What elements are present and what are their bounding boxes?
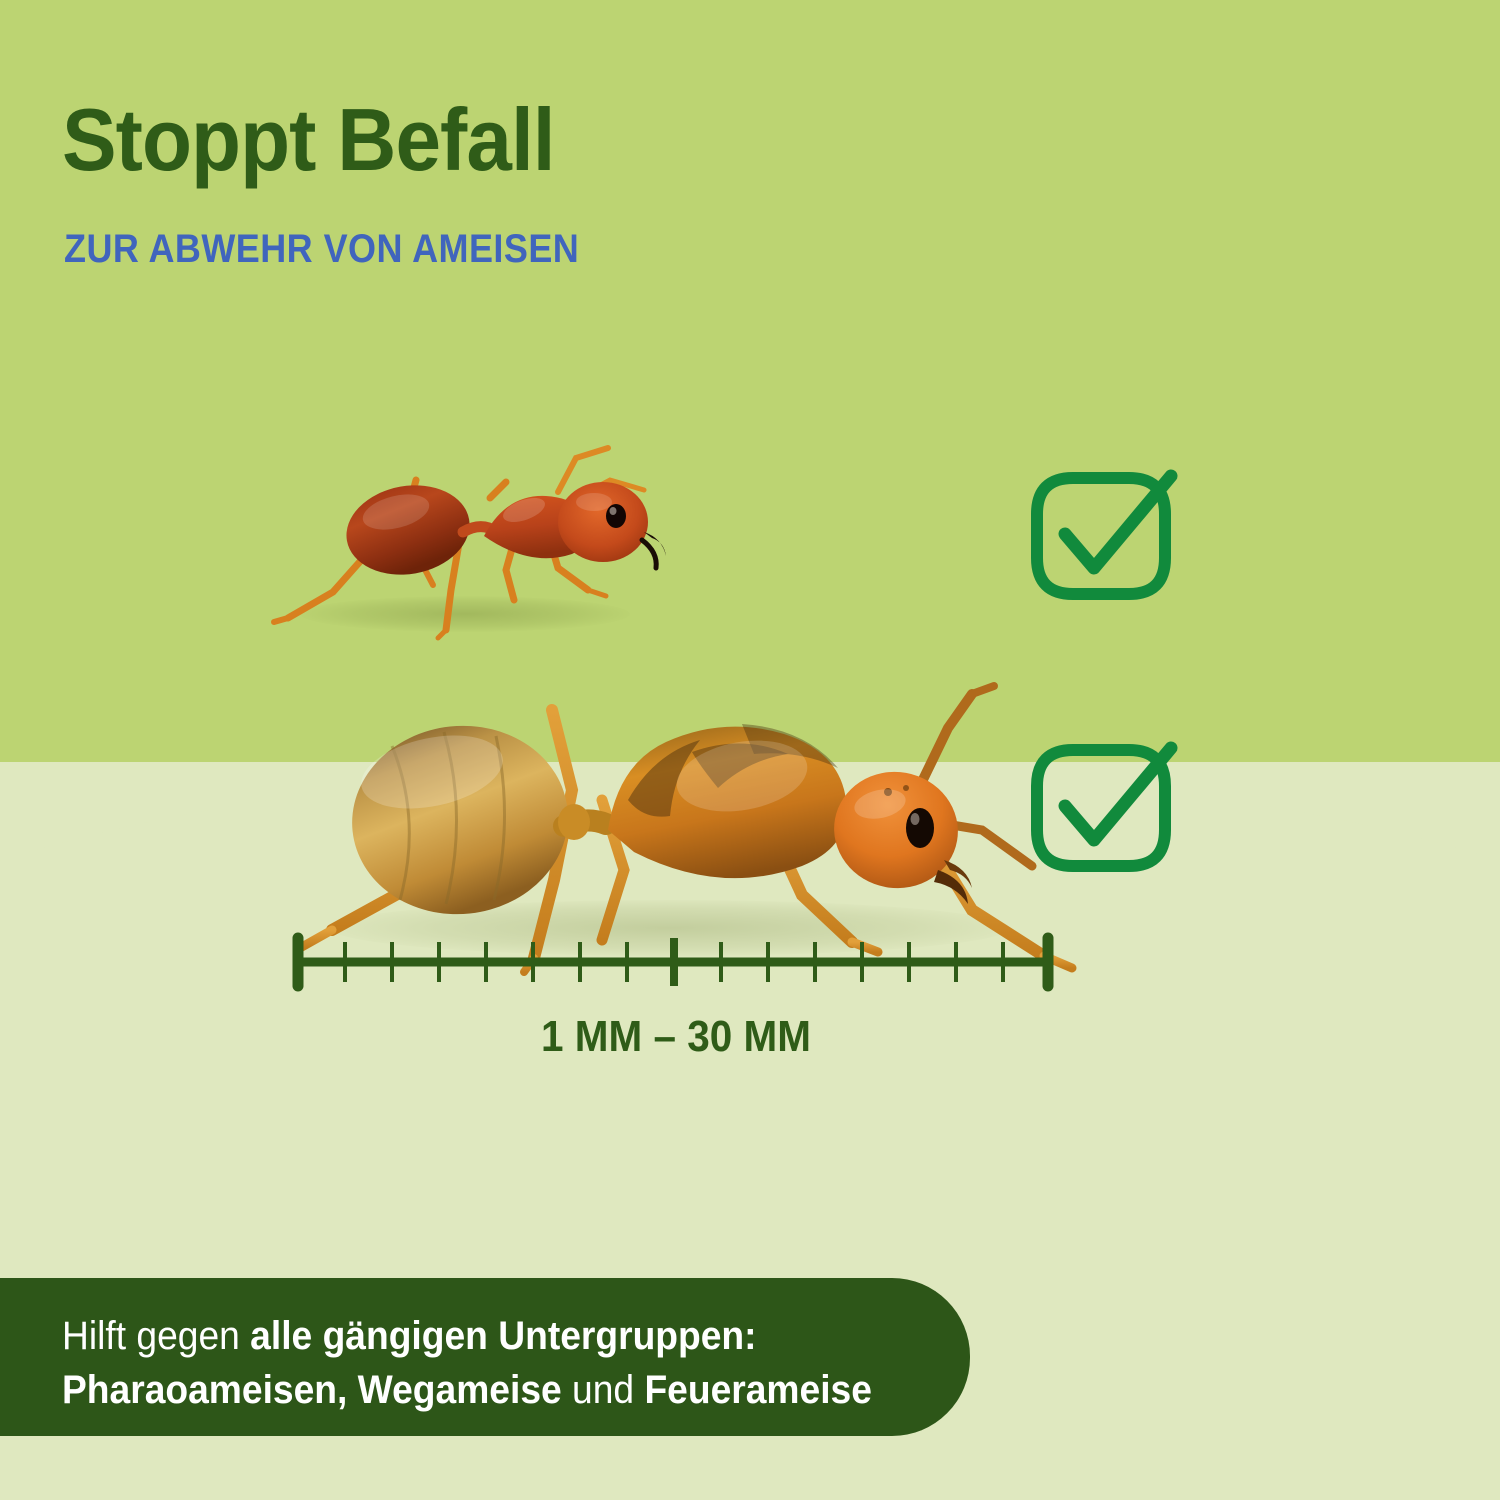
page-subtitle: ZUR ABWEHR VON AMEISEN (64, 227, 579, 272)
banner-line1-thin: Hilft gegen (62, 1314, 250, 1358)
size-scale-ruler (292, 930, 1060, 994)
check-square-icon (1031, 738, 1193, 878)
ruler-size-label: 1 MM – 30 MM (323, 1012, 1030, 1062)
check-square-icon (1031, 466, 1193, 606)
banner-line-1: Hilft gegen alle gängigen Untergruppen: (62, 1310, 880, 1364)
banner-line1-bold: alle gängigen Untergruppen: (250, 1314, 756, 1358)
bottom-banner-text: Hilft gegen alle gängigen Untergruppen: … (62, 1310, 880, 1417)
ant-small-illustration (258, 440, 688, 655)
banner-line2-thin: und (562, 1368, 645, 1412)
banner-line-2: Pharaoameisen, Wegameise und Feuerameise (62, 1364, 880, 1418)
page-title: Stoppt Befall (62, 96, 555, 184)
banner-line2-bold-b: Feuerameise (644, 1368, 871, 1412)
banner-line2-bold-a: Pharaoameisen, Wegameise (62, 1368, 562, 1412)
product-infographic-card: Stoppt Befall ZUR ABWEHR VON AMEISEN (0, 0, 1500, 1500)
